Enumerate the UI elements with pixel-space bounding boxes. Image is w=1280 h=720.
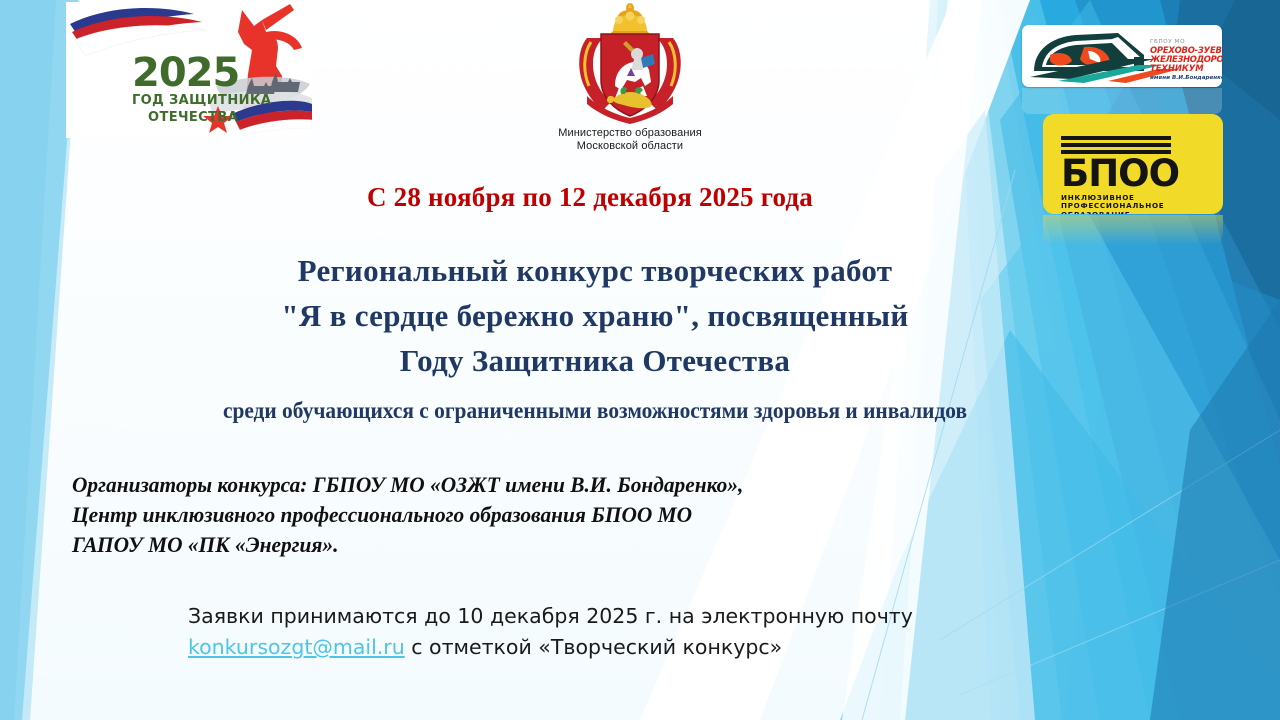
contact-email-link[interactable]: konkursozgt@mail.ru — [188, 635, 405, 659]
contact-note: с отметкой «Творческий конкурс» — [405, 635, 782, 659]
title-line-3: Году Защитника Отечества — [0, 338, 1190, 383]
organizers-line-1: Организаторы конкурса: ГБПОУ МО «ОЗЖТ им… — [72, 470, 927, 500]
title-line-1: Региональный конкурс творческих работ — [0, 248, 1190, 293]
title-line-2: "Я в сердце бережно храню", посвященный — [0, 293, 1190, 338]
audience-subtitle: среди обучающихся с ограниченными возмож… — [163, 396, 1028, 425]
organizers-line-2: Центр инклюзивного профессионального обр… — [72, 500, 927, 530]
poster-content: С 28 ноября по 12 декабря 2025 года Реги… — [0, 0, 1280, 720]
contact-line-1: Заявки принимаются до 10 декабря 2025 г.… — [188, 601, 1008, 632]
contact-block: Заявки принимаются до 10 декабря 2025 г.… — [188, 601, 1008, 663]
event-date-line: С 28 ноября по 12 декабря 2025 года — [0, 182, 1180, 213]
poster-slide: 2025 ГОД ЗАЩИТНИКА ОТЕЧЕСТВА — [0, 0, 1280, 720]
organizers-line-3: ГАПОУ МО «ПК «Энергия». — [72, 530, 927, 560]
organizers-block: Организаторы конкурса: ГБПОУ МО «ОЗЖТ им… — [72, 470, 927, 560]
page-title: Региональный конкурс творческих работ "Я… — [0, 248, 1190, 383]
